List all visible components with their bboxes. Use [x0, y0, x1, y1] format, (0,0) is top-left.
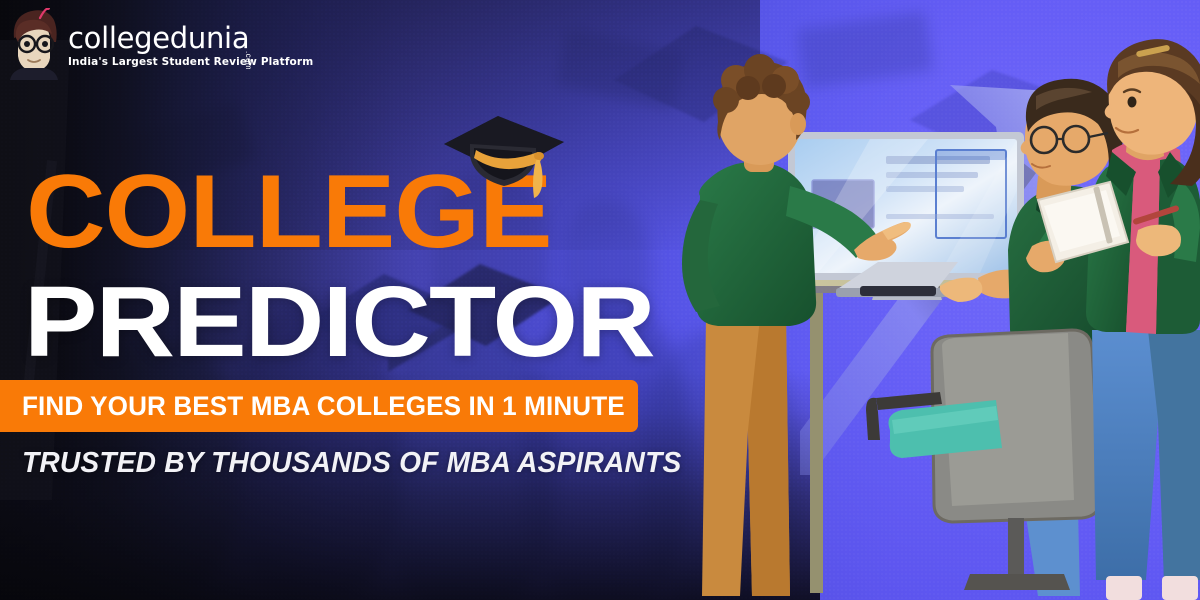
graduation-cap-icon: [440, 108, 570, 200]
subheadline-text: FIND YOUR BEST MBA COLLEGES IN 1 MINUTE: [22, 391, 625, 422]
logo-wordmark: collegedunia.com: [68, 24, 249, 53]
headline-line-2: PREDICTOR: [24, 272, 654, 372]
logo-dotcom: .com: [244, 51, 252, 70]
students-illustration: [640, 0, 1200, 600]
subheadline-banner: FIND YOUR BEST MBA COLLEGES IN 1 MINUTE: [0, 380, 638, 432]
collegedunia-logo[interactable]: collegedunia.com India's Largest Student…: [8, 8, 313, 80]
trustline-text: TRUSTED BY THOUSANDS OF MBA ASPIRANTS: [22, 447, 681, 480]
college-predictor-banner: collegedunia.com India's Largest Student…: [0, 0, 1200, 600]
mascot-face-icon: [8, 8, 60, 80]
headline-block: COLLEGE PREDICTOR FIND YOUR BEST MBA COL…: [0, 0, 700, 600]
illustration-svg: [640, 0, 1200, 600]
logo-tagline: India's Largest Student Review Platform: [68, 56, 313, 68]
